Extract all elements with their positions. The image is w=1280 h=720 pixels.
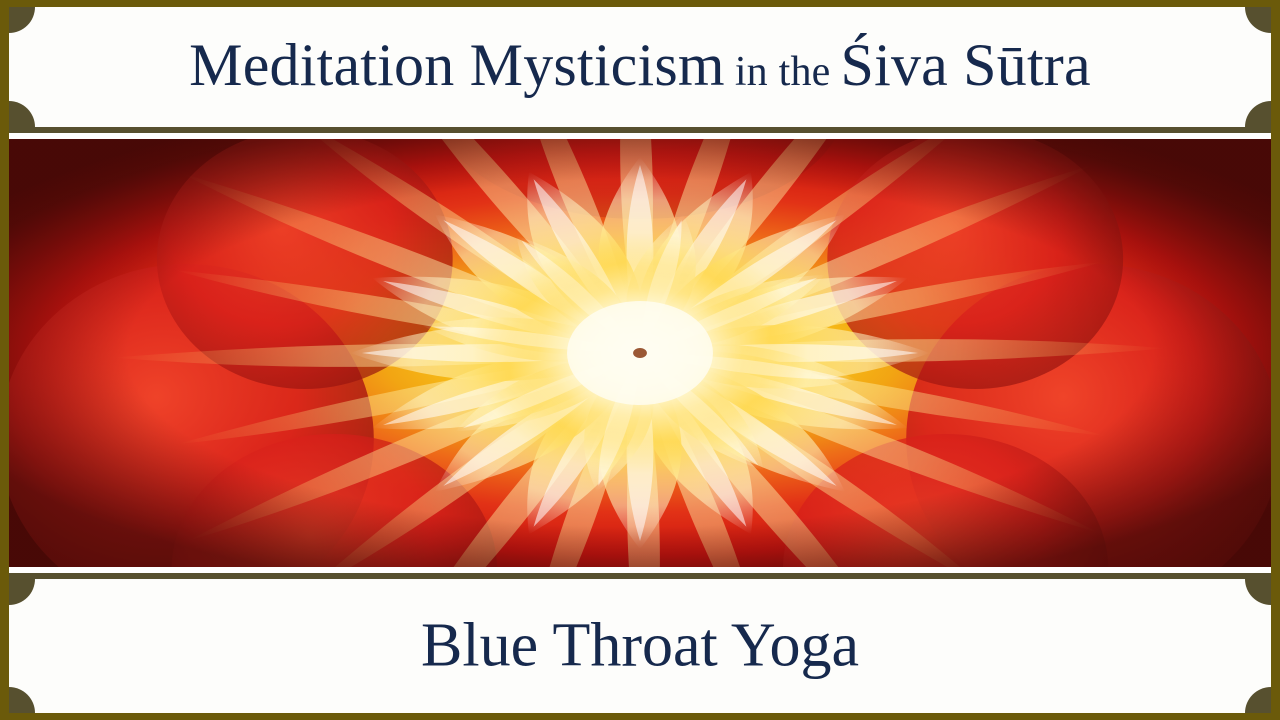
footer-corner-dot-bottom-right-icon [1245,687,1271,713]
page-title: Meditation Mysticismin theŚiva Sūtra [9,34,1271,97]
title-panel: Meditation Mysticismin theŚiva Sūtra [9,7,1271,133]
footer-title: Blue Throat Yoga [9,613,1271,678]
radial-flame-mandala-icon [9,139,1271,567]
corner-dot-bottom-left-icon [9,101,35,127]
footer-corner-dot-top-left-icon [9,579,35,605]
mandala-artwork [9,139,1271,567]
corner-dot-top-right-icon [1245,7,1271,33]
corner-dot-top-left-icon [9,7,35,33]
slide-root: Meditation Mysticismin theŚiva Sūtra [0,0,1280,720]
title-part-main-1: Meditation Mysticism [189,32,725,98]
corner-dot-bottom-right-icon [1245,101,1271,127]
footer-panel: Blue Throat Yoga [9,573,1271,713]
title-part-main-2: Śiva Sūtra [841,32,1091,98]
footer-corner-dot-bottom-left-icon [9,687,35,713]
footer-corner-dot-top-right-icon [1245,579,1271,605]
title-part-small: in the [735,49,831,95]
